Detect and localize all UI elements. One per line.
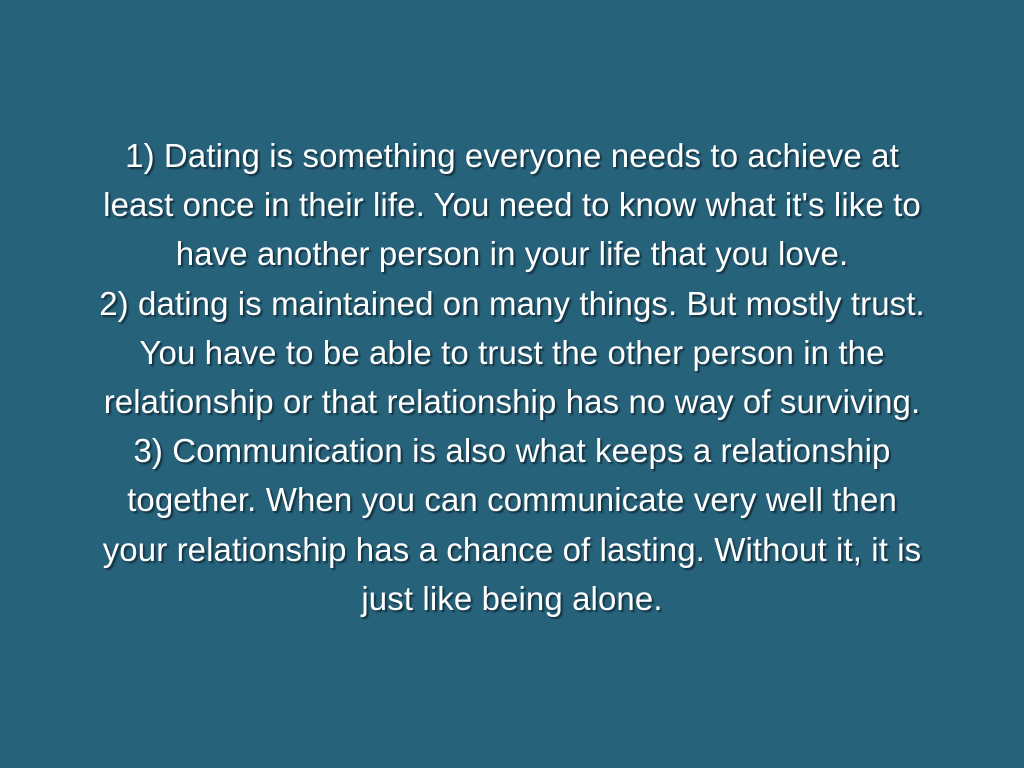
text-line: 2) dating is maintained on many things. … (14, 279, 1010, 328)
paragraph-item-1: 1) Dating is something everyone needs to… (14, 131, 1010, 279)
text-line: your relationship has a chance of lastin… (14, 525, 1010, 574)
text-line: 1) Dating is something everyone needs to… (14, 131, 1010, 180)
paragraph-item-3: 3) Communication is also what keeps a re… (14, 426, 1010, 623)
text-line: just like being alone. (14, 574, 1010, 623)
text-line: You have to be able to trust the other p… (14, 328, 1010, 377)
text-line: 3) Communication is also what keeps a re… (14, 426, 1010, 475)
paragraph-item-2: 2) dating is maintained on many things. … (14, 279, 1010, 427)
text-line: together. When you can communicate very … (14, 475, 1010, 524)
slide-text-block: 1) Dating is something everyone needs to… (14, 131, 1010, 623)
text-line: least once in their life. You need to kn… (14, 180, 1010, 229)
slide-canvas: 1) Dating is something everyone needs to… (0, 0, 1024, 768)
text-line: have another person in your life that yo… (14, 229, 1010, 278)
text-line: relationship or that relationship has no… (14, 377, 1010, 426)
